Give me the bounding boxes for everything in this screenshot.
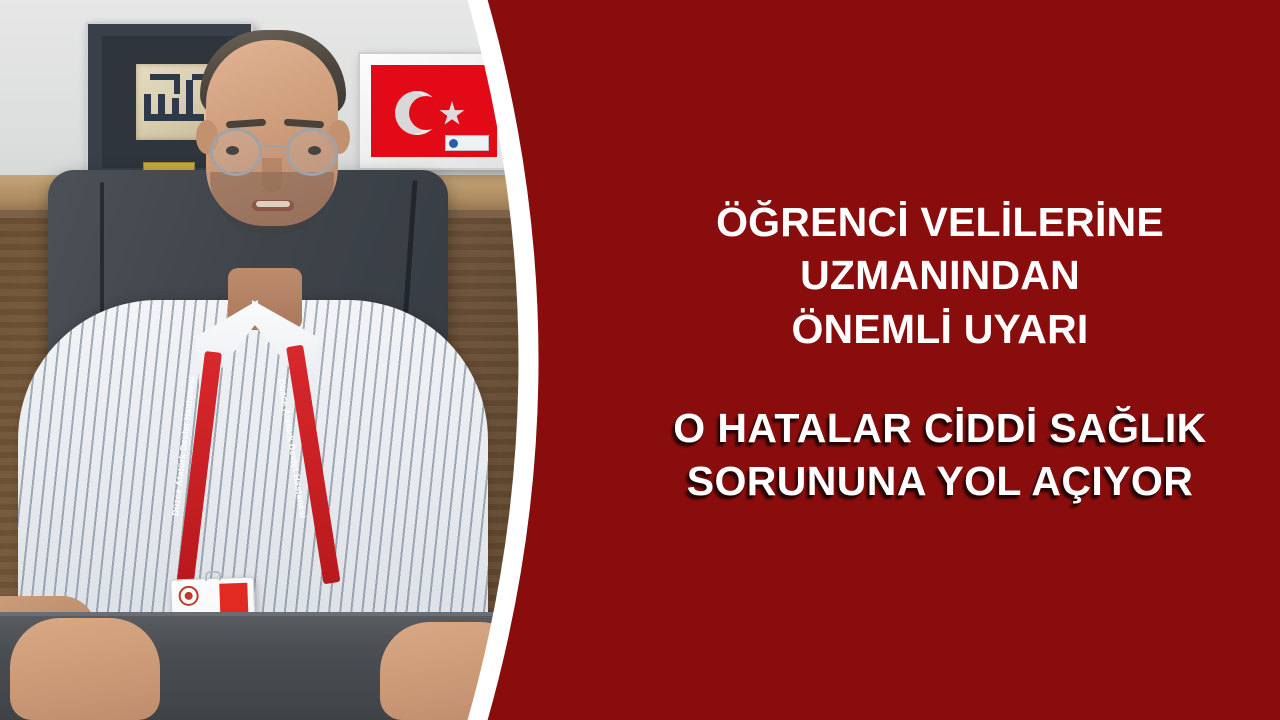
news-thumbnail: Düzce Atatürk Devlet Hastanesi Düzce Ata… [0, 0, 1280, 720]
headline-secondary: O HATALAR CİDDİ SAĞLIK SORUNUNA YOL AÇIY… [673, 402, 1206, 509]
headline-secondary-line-1: O HATALAR CİDDİ SAĞLIK [673, 402, 1206, 455]
headline-primary: ÖĞRENCİ VELİLERİNE UZMANINDAN ÖNEMLİ UYA… [716, 196, 1164, 356]
headline-primary-line-2: UZMANINDAN [716, 249, 1164, 302]
headline-block: ÖĞRENCİ VELİLERİNE UZMANINDAN ÖNEMLİ UYA… [600, 0, 1280, 720]
headline-secondary-line-2: SORUNUNA YOL AÇIYOR [673, 455, 1206, 508]
headline-primary-line-3: ÖNEMLİ UYARI [716, 303, 1164, 356]
headline-primary-line-1: ÖĞRENCİ VELİLERİNE [716, 196, 1164, 249]
